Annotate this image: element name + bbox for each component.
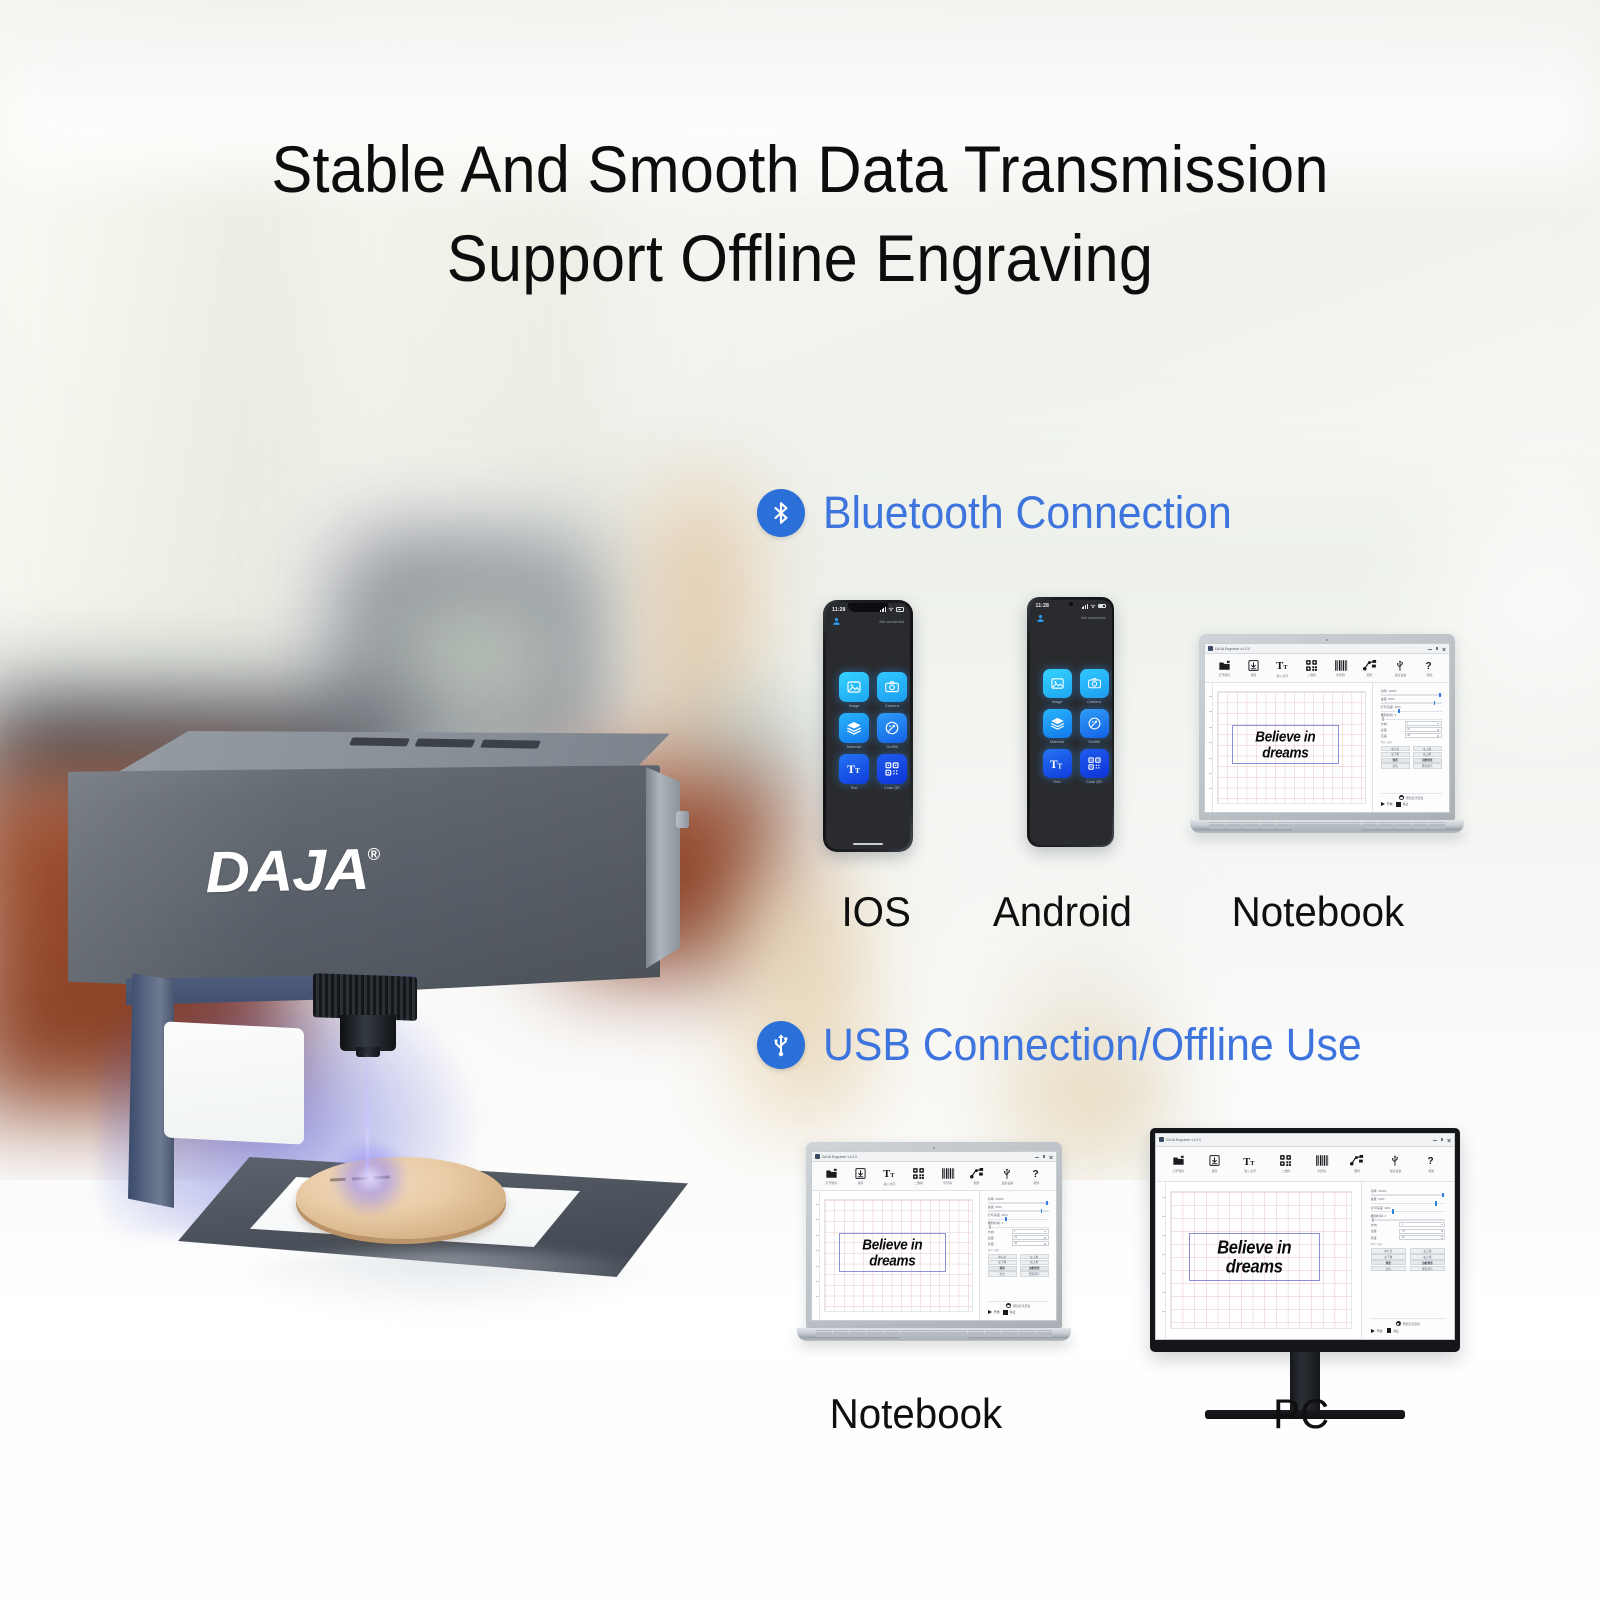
param-label: 打印深度: 30% [1371, 1206, 1446, 1210]
toolbar-text[interactable]: TT 输入文字 [875, 1166, 904, 1186]
status-icons [880, 607, 904, 612]
time-track [988, 1227, 1049, 1228]
design-canvas[interactable]: Believe in dreams [1156, 1182, 1362, 1339]
engraver-software-window: DAJA Engraver v1.0.0 打开图片 保存 [1204, 643, 1450, 813]
keyboard[interactable] [816, 1330, 1052, 1337]
toolbar-shape[interactable]: 图形 [1355, 659, 1384, 678]
toolbar-barcode[interactable]: 条形码 [1326, 659, 1355, 678]
toolbar-label: 打开图片 [826, 1181, 838, 1185]
start-label: 开始 [994, 1310, 1000, 1314]
qrcode-icon[interactable] [1080, 749, 1109, 778]
minimize-icon[interactable] [1035, 1155, 1039, 1159]
svg-text:T: T [890, 1172, 895, 1179]
tile-camera[interactable]: Camera [877, 672, 907, 708]
play-icon[interactable] [1371, 1329, 1375, 1333]
laptop-screen: DAJA Engraver v1.0.0 打开图片 保存 [1204, 643, 1450, 813]
design-canvas[interactable]: Believe in dreams [812, 1191, 980, 1320]
stepper-icon[interactable] [1441, 1236, 1443, 1238]
toolbar-qrcode[interactable]: 二维码 [904, 1167, 933, 1186]
app-body: Believe in dreams 功率: 100% 速度: 50% 打印深度:… [812, 1191, 1056, 1320]
field-value: 1 [1014, 1230, 1016, 1233]
toolbar-label: 连接设备 [1390, 1169, 1402, 1173]
toolbar-label: 输入文字 [1277, 674, 1289, 678]
field-direction[interactable]: 方向: 1 [1371, 1222, 1446, 1227]
param-time: 雕刻时间: 1 [988, 1221, 1049, 1228]
field-value: 1 [1407, 722, 1409, 725]
depth-slider[interactable] [1381, 711, 1442, 712]
artwork-line-2: dreams [869, 1252, 915, 1269]
help-icon[interactable]: ? [1425, 1154, 1437, 1167]
tile-label: Code QR [1086, 780, 1102, 784]
user-avatar-icon[interactable] [1036, 614, 1045, 623]
preset-button[interactable]: 定位 [1371, 1266, 1406, 1271]
height-input[interactable]: 40 [1405, 733, 1442, 738]
app-toolbar: 打开图片 保存 TT 输入文字 二维码 [812, 1162, 1056, 1190]
wifi-icon [888, 607, 894, 612]
toolbar-open-image[interactable]: 打开图片 [817, 1167, 846, 1186]
tile-label: Image [849, 704, 860, 708]
depth-slider[interactable] [988, 1219, 1049, 1220]
stepper-icon[interactable] [1044, 1237, 1046, 1239]
units-hint: 单位: 毫米 [1371, 1242, 1446, 1246]
speed-slider[interactable] [988, 1210, 1049, 1211]
svg-text:T: T [1251, 1160, 1256, 1167]
app-top-bar[interactable]: Not connected [826, 616, 910, 626]
width-input[interactable]: 70 [1012, 1235, 1049, 1240]
param-power[interactable]: 功率: 100% [988, 1197, 1049, 1204]
preset-button[interactable]: 左下角 [1381, 752, 1410, 757]
toolbar-label: 条形码 [1317, 1169, 1326, 1173]
field-value: 70 [1407, 728, 1410, 731]
height-input[interactable]: 40 [1399, 1235, 1445, 1240]
chevron-down-icon[interactable] [1441, 1224, 1443, 1225]
preset-button[interactable]: 左上角 [1410, 1248, 1445, 1253]
tile-image[interactable]: Image [839, 672, 869, 708]
tile-qrcode[interactable]: Code QR [1080, 749, 1109, 784]
direction-select[interactable]: 1 [1012, 1229, 1049, 1234]
tile-label: Text [1053, 780, 1060, 784]
tile-label: Text [850, 786, 857, 790]
qrcode-icon[interactable] [877, 754, 907, 784]
preset-button[interactable]: 预览 [988, 1266, 1017, 1271]
tile-label: Graffiti [1088, 740, 1100, 744]
tile-qrcode[interactable]: Code QR [877, 754, 907, 790]
preset-button[interactable]: 左下角 [988, 1260, 1017, 1265]
panel-footer: 预览红光定位 开始 停止 [1381, 793, 1442, 807]
palette-icon[interactable] [877, 713, 907, 743]
param-power[interactable]: 功率: 100% [1381, 689, 1442, 696]
app-top-bar[interactable]: Not connected [1030, 613, 1112, 623]
param-depth[interactable]: 打印深度: 30% [1381, 705, 1442, 712]
toolbar-help[interactable]: ? 帮助 [1413, 1154, 1449, 1173]
phone-screen: 11:28 Not connected [826, 603, 910, 849]
shape-icon[interactable] [1350, 1154, 1364, 1167]
laptop-base [797, 1328, 1071, 1341]
design-canvas[interactable]: Believe in dreams [1205, 683, 1373, 812]
text-icon[interactable]: TT [839, 754, 869, 784]
section-heading-usb: USB Connection/Offline Use [757, 1019, 1390, 1071]
run-controls: 开始 停止 [988, 1310, 1049, 1315]
status-bar: 11:28 [1030, 600, 1112, 613]
toolbar-shape[interactable]: 图形 [1340, 1154, 1376, 1173]
pc-monitor-mockup: DAJA Engraver v1.0.0 打开图片 保存 [1150, 1128, 1460, 1419]
preset-button[interactable]: 左上角 [1020, 1254, 1049, 1259]
table-reflection [210, 1250, 680, 1320]
preset-button[interactable]: 聚焦调节 [1413, 763, 1442, 768]
preview-toggle[interactable]: 预览红光定位 [1381, 795, 1442, 800]
user-avatar-icon[interactable] [832, 617, 841, 626]
start-label: 开始 [1387, 802, 1393, 806]
toolbar-label: 连接设备 [1002, 1181, 1014, 1185]
param-speed[interactable]: 速度: 50% [988, 1205, 1049, 1212]
param-time: 雕刻时间: 1 [1371, 1214, 1446, 1221]
tile-graffiti[interactable]: Graffiti [877, 713, 907, 749]
app-logo-icon [1208, 646, 1213, 651]
stepper-icon[interactable] [1441, 1230, 1443, 1232]
engraver-lens-collar [313, 973, 417, 1021]
play-icon[interactable] [1381, 802, 1385, 806]
laser-engraver-product: DAJA ® [60, 725, 700, 1285]
param-speed[interactable]: 速度: 50% [1381, 697, 1442, 704]
chevron-down-icon[interactable] [1044, 1231, 1046, 1232]
svg-text:?: ? [1426, 661, 1432, 672]
preview-label: 预览红光定位 [1403, 1322, 1420, 1326]
tile-camera[interactable]: Camera [1080, 669, 1109, 704]
status-time: 11:28 [832, 607, 845, 613]
field-width[interactable]: 宽度: 70 [1381, 727, 1442, 732]
toolbar-label: 二维码 [914, 1181, 923, 1185]
preset-button-grid: 中心点 左上角 左下角 右上角 预览 边框预览 定位 聚焦调节 [1371, 1248, 1446, 1270]
import-icon[interactable] [1247, 659, 1260, 672]
app-body: Believe in dreams 功率: 100% 速度: 50% 打印深度:… [1156, 1182, 1454, 1339]
tile-image[interactable]: Image [1043, 669, 1072, 704]
param-label: 功率: 100% [988, 1197, 1049, 1201]
maximize-icon[interactable] [1440, 1138, 1444, 1142]
wifi-icon [1090, 604, 1096, 609]
palette-icon[interactable] [1080, 709, 1109, 738]
direction-select[interactable]: 1 [1399, 1222, 1445, 1227]
width-input[interactable]: 70 [1405, 727, 1442, 732]
open-folder-icon[interactable] [825, 1167, 838, 1180]
param-label: 功率: 100% [1381, 689, 1442, 693]
engraver-software-window: DAJA Engraver v1.0.0 打开图片 保存 [811, 1151, 1057, 1321]
param-label: 雕刻时间: 1 [1371, 1214, 1446, 1218]
app-tile-grid: Image Camera Material [1030, 623, 1112, 845]
preview-label: 预览红光定位 [1013, 1304, 1030, 1308]
battery-icon [896, 607, 904, 611]
status-bar: 11:28 [826, 603, 910, 616]
toolbar-open-image[interactable]: 打开图片 [1210, 659, 1239, 678]
run-controls: 开始 停止 [1371, 1328, 1446, 1333]
tile-label: Material [847, 745, 861, 749]
units-hint: 单位: 毫米 [1381, 740, 1442, 744]
toolbar-label: 保存 [1212, 1169, 1218, 1173]
tile-label: Graffiti [886, 745, 898, 749]
parameter-panel: 功率: 100% 速度: 50% 打印深度: 30% 雕刻时间: 1 方向: [1373, 683, 1449, 812]
qrcode-tool-icon[interactable] [912, 1167, 925, 1180]
toolbar-open-image[interactable]: 打开图片 [1161, 1154, 1197, 1173]
preview-radio-icon[interactable] [1399, 795, 1404, 800]
background-monitor-screen [378, 580, 563, 730]
tile-label: Image [1052, 700, 1063, 704]
signal-icon [880, 607, 886, 612]
import-icon[interactable] [1208, 1154, 1221, 1167]
tile-material[interactable]: Material [839, 713, 869, 749]
barcode-icon[interactable] [1315, 1154, 1329, 1167]
toolbar-connect-device[interactable]: 连接设备 [993, 1167, 1022, 1186]
webcam-icon [1326, 639, 1328, 641]
usb-device-icon[interactable] [1001, 1167, 1013, 1180]
usb-device-icon[interactable] [1389, 1154, 1401, 1167]
speed-slider[interactable] [1371, 1203, 1446, 1204]
field-value: 40 [1014, 1242, 1017, 1245]
start-button[interactable]: 开始 [988, 1310, 1000, 1315]
usb-device-icon[interactable] [1394, 659, 1406, 672]
notebook-usb-mockup: DAJA Engraver v1.0.0 打开图片 保存 [806, 1142, 1062, 1341]
preset-button[interactable]: 定位 [988, 1271, 1017, 1276]
stepper-icon[interactable] [1437, 729, 1439, 731]
svg-text:T: T [1276, 661, 1283, 672]
preset-button[interactable]: 预览 [1381, 758, 1410, 763]
qrcode-tool-icon[interactable] [1279, 1154, 1292, 1167]
tile-label: Material [1050, 740, 1064, 744]
stop-label: 停止 [1403, 802, 1409, 806]
app-toolbar: 打开图片 保存 TT 输入文字 二维码 [1205, 654, 1449, 682]
stop-icon[interactable] [1387, 1328, 1392, 1333]
toolbar-label: 输入文字 [884, 1182, 896, 1186]
device-label-notebook-bottom: Notebook [830, 1390, 1003, 1438]
speed-slider[interactable] [1381, 702, 1442, 703]
preset-button[interactable]: 中心点 [988, 1254, 1017, 1259]
toolbar-connect-device[interactable]: 连接设备 [1378, 1154, 1414, 1173]
stop-button[interactable]: 停止 [1387, 1328, 1399, 1333]
play-icon[interactable] [988, 1310, 992, 1314]
toolbar-label: 帮助 [1034, 1181, 1040, 1185]
param-label: 速度: 50% [1381, 697, 1442, 701]
vertical-ruler [812, 1191, 820, 1320]
power-slider[interactable] [988, 1202, 1049, 1203]
layers-icon[interactable] [1043, 709, 1072, 738]
section-label-bluetooth: Bluetooth Connection [823, 487, 1232, 539]
height-input[interactable]: 40 [1012, 1241, 1049, 1246]
field-width[interactable]: 宽度: 70 [988, 1235, 1049, 1240]
barcode-icon[interactable] [941, 1167, 955, 1180]
shape-icon[interactable] [1363, 659, 1377, 672]
toolbar-shape[interactable]: 图形 [962, 1167, 991, 1186]
preset-button[interactable]: 中心点 [1371, 1248, 1406, 1253]
parameter-panel: 功率: 100% 速度: 50% 打印深度: 30% 雕刻时间: 1 方向: [980, 1191, 1056, 1320]
toolbar-label: 保存 [1251, 673, 1257, 677]
ios-phone-mockup: 11:28 Not connected [823, 600, 913, 852]
device-label-android: Android [993, 888, 1132, 936]
minimize-icon[interactable] [1433, 1138, 1437, 1142]
chevron-down-icon[interactable] [1437, 723, 1439, 724]
svg-text:?: ? [1428, 1156, 1434, 1167]
keyboard[interactable] [1209, 822, 1445, 829]
toolbar-help[interactable]: ? 帮助 [1022, 1167, 1051, 1186]
depth-slider[interactable] [1371, 1211, 1446, 1212]
toolbar-label: 输入文字 [1244, 1169, 1256, 1173]
stop-icon[interactable] [1396, 802, 1401, 807]
artwork-text: Believe in dreams [1217, 1239, 1291, 1276]
toolbar-save[interactable]: 保存 [1197, 1154, 1233, 1173]
preset-button[interactable]: 右上角 [1413, 752, 1442, 757]
toolbar-qrcode[interactable]: 二维码 [1297, 659, 1326, 678]
minimize-icon[interactable] [1428, 647, 1432, 651]
tile-graffiti[interactable]: Graffiti [1080, 709, 1109, 744]
power-slider[interactable] [1381, 694, 1442, 695]
open-folder-icon[interactable] [1218, 659, 1231, 672]
monitor-screen: DAJA Engraver v1.0.0 打开图片 保存 [1155, 1133, 1455, 1340]
window-titlebar: DAJA Engraver v1.0.0 [812, 1152, 1056, 1162]
toolbar-connect-device[interactable]: 连接设备 [1386, 659, 1415, 678]
engraver-stand-window [164, 1021, 304, 1144]
field-value: 1 [1402, 1223, 1404, 1226]
start-button[interactable]: 开始 [1371, 1328, 1383, 1333]
camera-icon[interactable] [877, 672, 907, 702]
preset-button[interactable]: 边框预览 [1410, 1260, 1445, 1265]
artwork-selection[interactable]: Believe in dreams [1232, 725, 1339, 764]
toolbar-save[interactable]: 保存 [846, 1167, 875, 1186]
text-tool-icon[interactable]: TT [883, 1166, 897, 1180]
toolbar-qrcode[interactable]: 二维码 [1268, 1154, 1304, 1173]
preview-radio-icon[interactable] [1396, 1321, 1401, 1326]
image-icon[interactable] [839, 672, 869, 702]
toolbar-save[interactable]: 保存 [1239, 659, 1268, 678]
preset-button[interactable]: 定位 [1381, 763, 1410, 768]
maximize-icon[interactable] [1435, 647, 1439, 651]
tile-material[interactable]: Material [1043, 709, 1072, 744]
help-icon[interactable]: ? [1030, 1167, 1042, 1180]
param-depth[interactable]: 打印深度: 30% [1371, 1206, 1446, 1213]
preview-label: 预览红光定位 [1406, 796, 1423, 800]
phone-screen: 11:28 Not connected [1030, 600, 1112, 845]
preset-button[interactable]: 聚焦调节 [1020, 1271, 1049, 1276]
status-time: 11:28 [1036, 603, 1049, 609]
field-direction[interactable]: 方向: 1 [1381, 721, 1442, 726]
svg-text:T: T [1057, 761, 1062, 770]
stop-button[interactable]: 停止 [1003, 1310, 1015, 1315]
svg-text:T: T [1244, 1157, 1251, 1168]
param-depth[interactable]: 打印深度: 30% [988, 1213, 1049, 1220]
signal-icon [1082, 604, 1088, 609]
preset-button[interactable]: 左下角 [1371, 1254, 1406, 1259]
toolbar-text[interactable]: TT 输入文字 [1268, 658, 1297, 678]
preset-button[interactable]: 预览 [1371, 1260, 1406, 1265]
stop-button[interactable]: 停止 [1396, 802, 1408, 807]
artwork-line-2: dreams [1226, 1256, 1283, 1276]
toolbar-barcode[interactable]: 条形码 [1304, 1154, 1340, 1173]
param-speed[interactable]: 速度: 50% [1371, 1197, 1446, 1204]
param-label: 速度: 50% [988, 1205, 1049, 1209]
home-indicator [853, 843, 883, 845]
toolbar-label: 条形码 [943, 1181, 952, 1185]
stepper-icon[interactable] [1044, 1243, 1046, 1245]
tile-text[interactable]: TT Text [1043, 749, 1072, 784]
close-icon[interactable] [1447, 1138, 1451, 1142]
field-height[interactable]: 高度: 40 [1371, 1235, 1446, 1240]
text-tool-icon[interactable]: TT [1243, 1154, 1257, 1168]
section-heading-bluetooth: Bluetooth Connection [757, 487, 1253, 539]
preset-button[interactable]: 中心点 [1381, 746, 1410, 751]
preview-toggle[interactable]: 预览红光定位 [1371, 1321, 1446, 1326]
preset-button[interactable]: 聚焦调节 [1410, 1266, 1445, 1271]
toolbar-label: 打开图片 [1173, 1169, 1185, 1173]
param-power[interactable]: 功率: 100% [1371, 1189, 1446, 1196]
connection-status: Not connected [880, 620, 904, 624]
device-label-notebook-top: Notebook [1232, 888, 1405, 936]
toolbar-label: 二维码 [1307, 673, 1316, 677]
laptop-lid: DAJA Engraver v1.0.0 打开图片 保存 [1199, 634, 1455, 820]
svg-text:T: T [847, 762, 855, 776]
qrcode-tool-icon[interactable] [1305, 659, 1318, 672]
barcode-icon[interactable] [1334, 659, 1348, 672]
layers-icon[interactable] [839, 713, 869, 743]
preview-radio-icon[interactable] [1006, 1303, 1011, 1308]
toolbar-label: 条形码 [1336, 673, 1345, 677]
bluetooth-icon [757, 489, 805, 537]
open-folder-icon[interactable] [1172, 1154, 1185, 1167]
width-input[interactable]: 70 [1399, 1229, 1445, 1234]
field-height[interactable]: 高度: 40 [988, 1241, 1049, 1246]
field-direction[interactable]: 方向: 1 [988, 1229, 1049, 1234]
stepper-icon[interactable] [1437, 735, 1439, 737]
field-height[interactable]: 高度: 40 [1381, 733, 1442, 738]
usb-icon [757, 1021, 805, 1069]
direction-select[interactable]: 1 [1405, 721, 1442, 726]
laptop-base [1190, 820, 1464, 833]
artwork-text: Believe in dreams [1255, 730, 1315, 760]
maximize-icon[interactable] [1042, 1155, 1046, 1159]
stop-icon[interactable] [1003, 1310, 1008, 1315]
start-button[interactable]: 开始 [1381, 802, 1393, 807]
close-icon[interactable] [1442, 647, 1446, 651]
device-label-ios: IOS [841, 888, 910, 936]
svg-text:T: T [1283, 664, 1288, 671]
preset-button[interactable]: 右上角 [1410, 1254, 1445, 1259]
field-value: 70 [1402, 1230, 1405, 1233]
section-label-usb: USB Connection/Offline Use [823, 1019, 1362, 1071]
field-width[interactable]: 宽度: 70 [1371, 1229, 1446, 1234]
help-icon[interactable]: ? [1423, 659, 1435, 672]
import-icon[interactable] [854, 1167, 867, 1180]
artwork-selection[interactable]: Believe in dreams [1189, 1233, 1320, 1280]
preset-button[interactable]: 右上角 [1020, 1260, 1049, 1265]
preview-toggle[interactable]: 预览红光定位 [988, 1303, 1049, 1308]
text-icon[interactable]: TT [1043, 749, 1072, 778]
preset-button[interactable]: 边框预览 [1020, 1266, 1049, 1271]
toolbar-help[interactable]: ? 帮助 [1415, 659, 1444, 678]
close-icon[interactable] [1049, 1155, 1053, 1159]
stop-label: 停止 [1010, 1310, 1016, 1314]
preset-button[interactable]: 边框预览 [1413, 758, 1442, 763]
time-track [1371, 1219, 1446, 1220]
text-tool-icon[interactable]: TT [1276, 658, 1290, 672]
toolbar-barcode[interactable]: 条形码 [933, 1167, 962, 1186]
tile-text[interactable]: TT Text [839, 754, 869, 790]
artwork-selection[interactable]: Believe in dreams [839, 1233, 946, 1272]
image-icon[interactable] [1043, 669, 1072, 698]
phone-frame: 11:28 Not connected [1027, 597, 1114, 847]
shape-icon[interactable] [970, 1167, 984, 1180]
monitor-bezel: DAJA Engraver v1.0.0 打开图片 保存 [1150, 1128, 1460, 1352]
tile-label: Camera [885, 704, 899, 708]
power-slider[interactable] [1371, 1194, 1446, 1195]
toolbar-text[interactable]: TT 输入文字 [1232, 1154, 1268, 1174]
camera-icon[interactable] [1080, 669, 1109, 698]
preset-button[interactable]: 左上角 [1413, 746, 1442, 751]
preset-button-grid: 中心点 左上角 左下角 右上角 预览 边框预览 定位 聚焦调节 [1381, 746, 1442, 768]
